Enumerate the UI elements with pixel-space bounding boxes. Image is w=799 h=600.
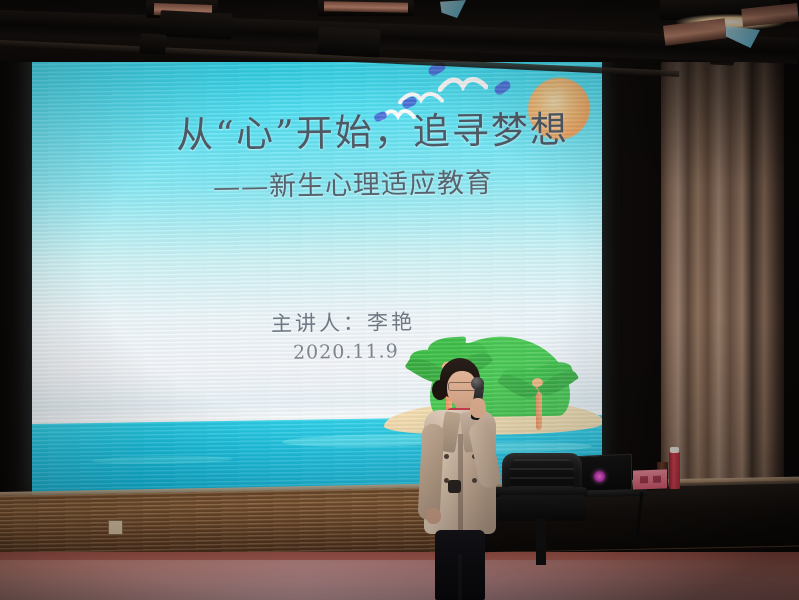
presenter-hand-left	[426, 508, 441, 524]
presenter-hand-right	[470, 398, 486, 418]
seagull-icon	[438, 73, 488, 98]
spotlight-fixture	[317, 26, 380, 57]
presenter-leg-gap	[458, 554, 462, 600]
spotlight-fixture	[159, 10, 232, 40]
slide-date: 2020.11.9	[293, 340, 399, 363]
name-card-text	[640, 476, 648, 483]
presenter-speaker	[404, 358, 514, 600]
floor-outlet-panel	[108, 520, 123, 535]
beverage-bottle	[669, 451, 680, 489]
spotlight-fixture	[139, 33, 166, 55]
floor-reflection	[0, 560, 799, 600]
coat-button	[472, 478, 477, 483]
decor-dash	[493, 79, 513, 97]
wave-shape	[92, 455, 232, 465]
name-card-text	[653, 476, 661, 483]
slide-title: 从“心”开始，追寻梦想	[176, 99, 570, 158]
coat-belt-buckle	[448, 480, 461, 493]
slide-subtitle: ——新生心理适应教育	[213, 161, 494, 204]
presenter-hair-bun	[432, 380, 448, 400]
coat-button	[444, 454, 449, 459]
projection-screen	[32, 0, 602, 496]
spotlight-panel	[324, 1, 408, 12]
slide-presenter: 主讲人：李艳	[271, 306, 415, 338]
office-chair-post	[536, 519, 546, 565]
screenshot-root: 从“心”开始，追寻梦想 ——新生心理适应教育 主讲人：李艳 2020.11.9	[0, 0, 799, 600]
table-name-card	[633, 469, 667, 489]
bottle-cap	[670, 447, 679, 453]
laptop-logo-icon	[594, 471, 605, 482]
